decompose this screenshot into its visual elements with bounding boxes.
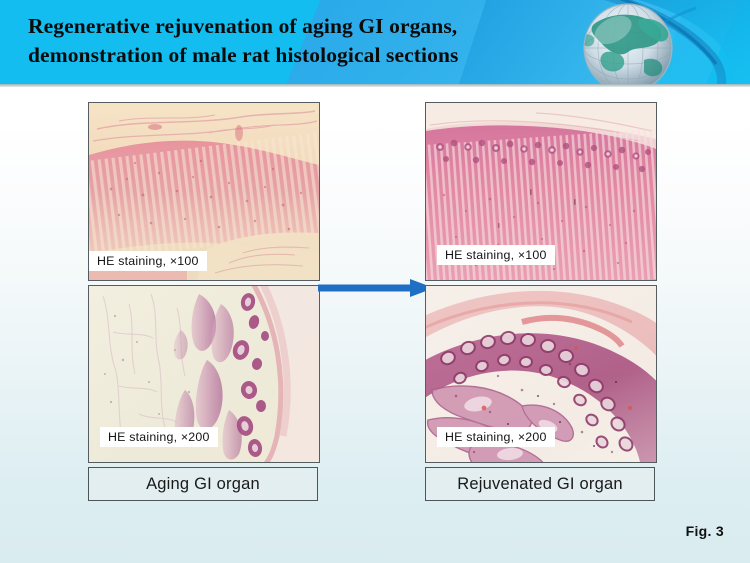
header-banner: Regenerative rejuvenation of aging GI or… — [0, 0, 750, 84]
micrograph-label-rejuv-he-100: HE staining, ×100 — [437, 245, 555, 265]
caption-aging-gi-organ: Aging GI organ — [88, 467, 318, 501]
figure-number: Fig. 3 — [686, 523, 724, 539]
micrograph-label-aging-he-200: HE staining, ×200 — [100, 427, 218, 447]
micrograph-aging-he-200: HE staining, ×200 — [88, 285, 320, 463]
micrograph-aging-he-100: HE staining, ×100 — [88, 102, 320, 281]
caption-rejuvenated-gi-organ: Rejuvenated GI organ — [425, 467, 655, 501]
column-rejuvenated: HE staining, ×100 — [425, 102, 657, 501]
page-title: Regenerative rejuvenation of aging GI or… — [28, 12, 628, 70]
micrograph-rejuv-he-200: HE staining, ×200 — [425, 285, 657, 463]
transformation-arrow — [318, 277, 434, 299]
micrograph-rejuv-he-100: HE staining, ×100 — [425, 102, 657, 281]
micrograph-label-rejuv-he-200: HE staining, ×200 — [437, 427, 555, 447]
micrograph-label-aging-he-100: HE staining, ×100 — [89, 251, 207, 271]
right-arrow-icon — [318, 277, 434, 299]
column-aging: HE staining, ×100 — [88, 102, 320, 501]
figure-body: HE staining, ×100 — [6, 87, 744, 557]
slide-root: Regenerative rejuvenation of aging GI or… — [0, 0, 750, 563]
